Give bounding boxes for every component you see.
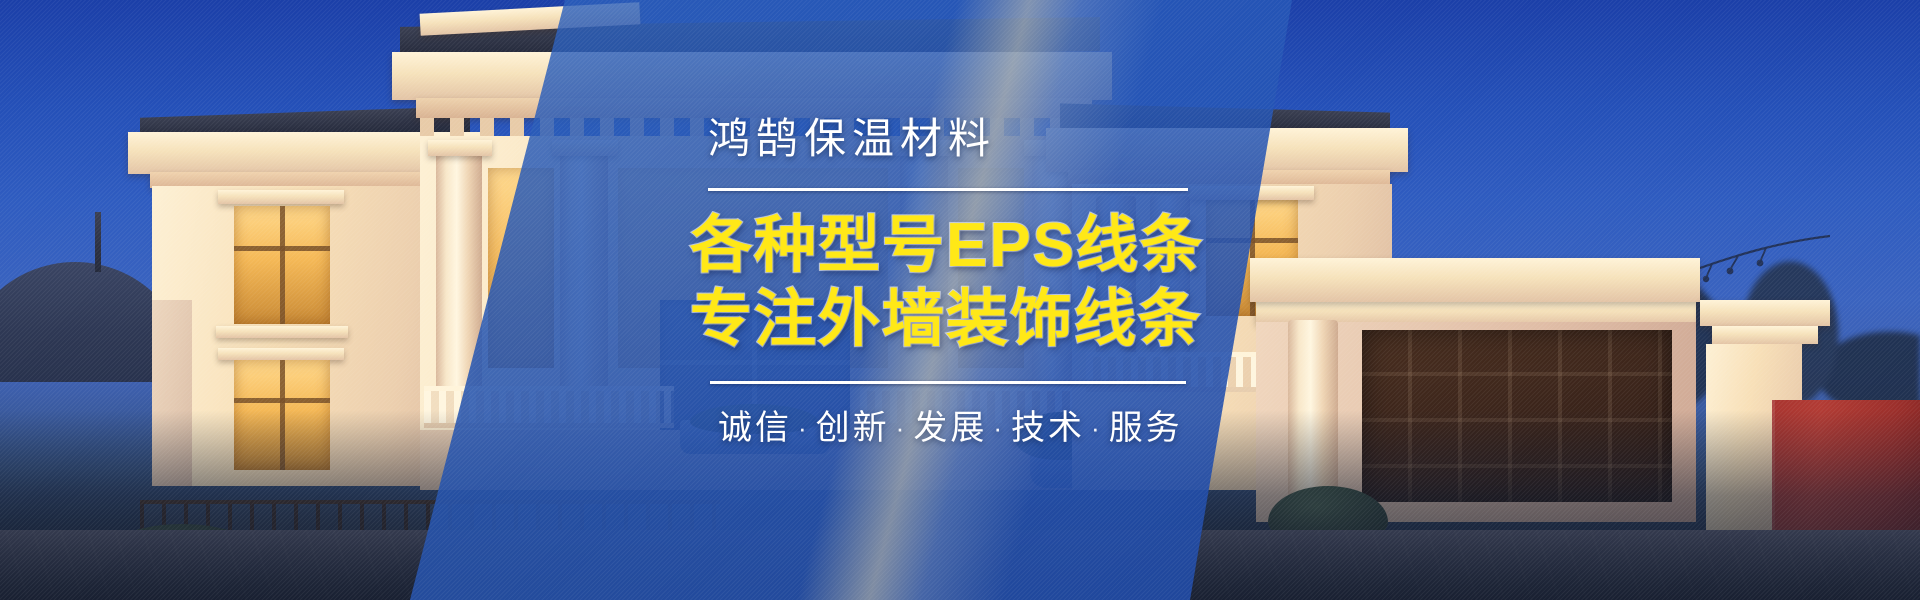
garage-cornice	[1250, 258, 1700, 302]
promotional-banner: 鸿鹄保温材料 各种型号EPS线条 专注外墙装饰线条 诚信·创新·发展·技术·服务	[0, 0, 1920, 600]
left-window-hood-2	[218, 348, 344, 360]
window-illuminated	[234, 206, 330, 324]
dome-finial	[95, 212, 101, 272]
left-window-hood	[218, 190, 344, 204]
far-pilaster-cap-2	[1712, 326, 1818, 344]
far-pilaster-cap	[1700, 300, 1830, 326]
left-window-sill	[216, 326, 348, 338]
column-capital	[428, 140, 492, 156]
